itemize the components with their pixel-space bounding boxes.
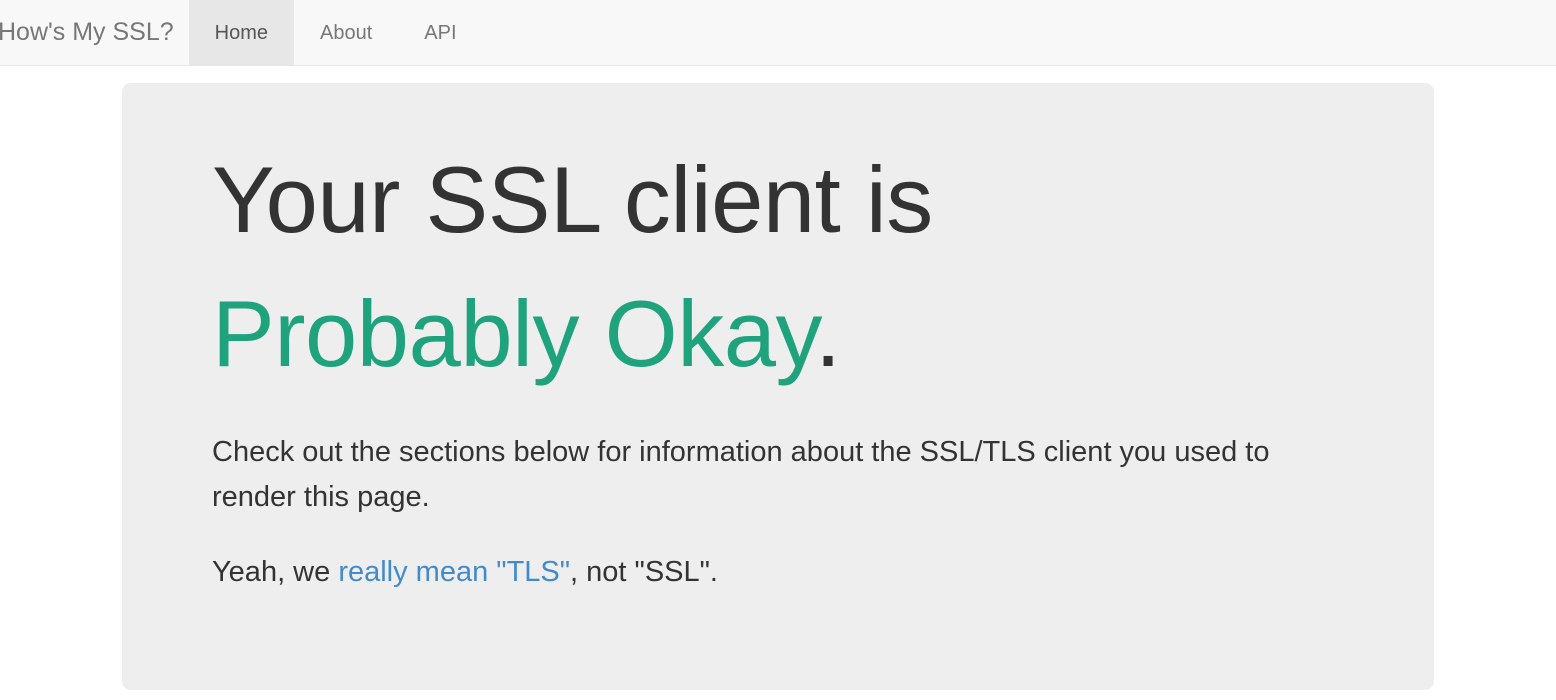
nav-link-home[interactable]: Home <box>189 0 294 65</box>
really-mean-tls-link[interactable]: really mean "TLS" <box>338 556 570 588</box>
nav-item-api[interactable]: API <box>398 0 482 65</box>
nav-item-about[interactable]: About <box>294 0 398 65</box>
lead-secondary-suffix: , not "SSL". <box>570 556 718 588</box>
navbar: How's My SSL? Home About API <box>0 0 1556 66</box>
nav-link-api[interactable]: API <box>398 0 482 65</box>
nav-item-home[interactable]: Home <box>189 0 294 65</box>
page-title: Your SSL client is Probably Okay. <box>212 149 1344 384</box>
navbar-brand[interactable]: How's My SSL? <box>0 0 189 65</box>
nav-link-about[interactable]: About <box>294 0 398 65</box>
lead-secondary-prefix: Yeah, we <box>212 556 338 588</box>
ssl-rating-value: Probably Okay <box>212 281 815 386</box>
navbar-nav: Home About API <box>189 0 483 65</box>
jumbotron-panel: Your SSL client is Probably Okay. Check … <box>122 83 1434 690</box>
ssl-rating-period: . <box>815 281 841 386</box>
page-title-prefix: Your SSL client is <box>212 147 933 252</box>
ssl-rating-line: Probably Okay. <box>212 283 1344 385</box>
lead-paragraph-secondary: Yeah, we really mean "TLS", not "SSL". <box>212 550 1344 595</box>
lead-paragraph-primary: Check out the sections below for informa… <box>212 430 1344 520</box>
main-container: Your SSL client is Probably Okay. Check … <box>122 66 1434 690</box>
